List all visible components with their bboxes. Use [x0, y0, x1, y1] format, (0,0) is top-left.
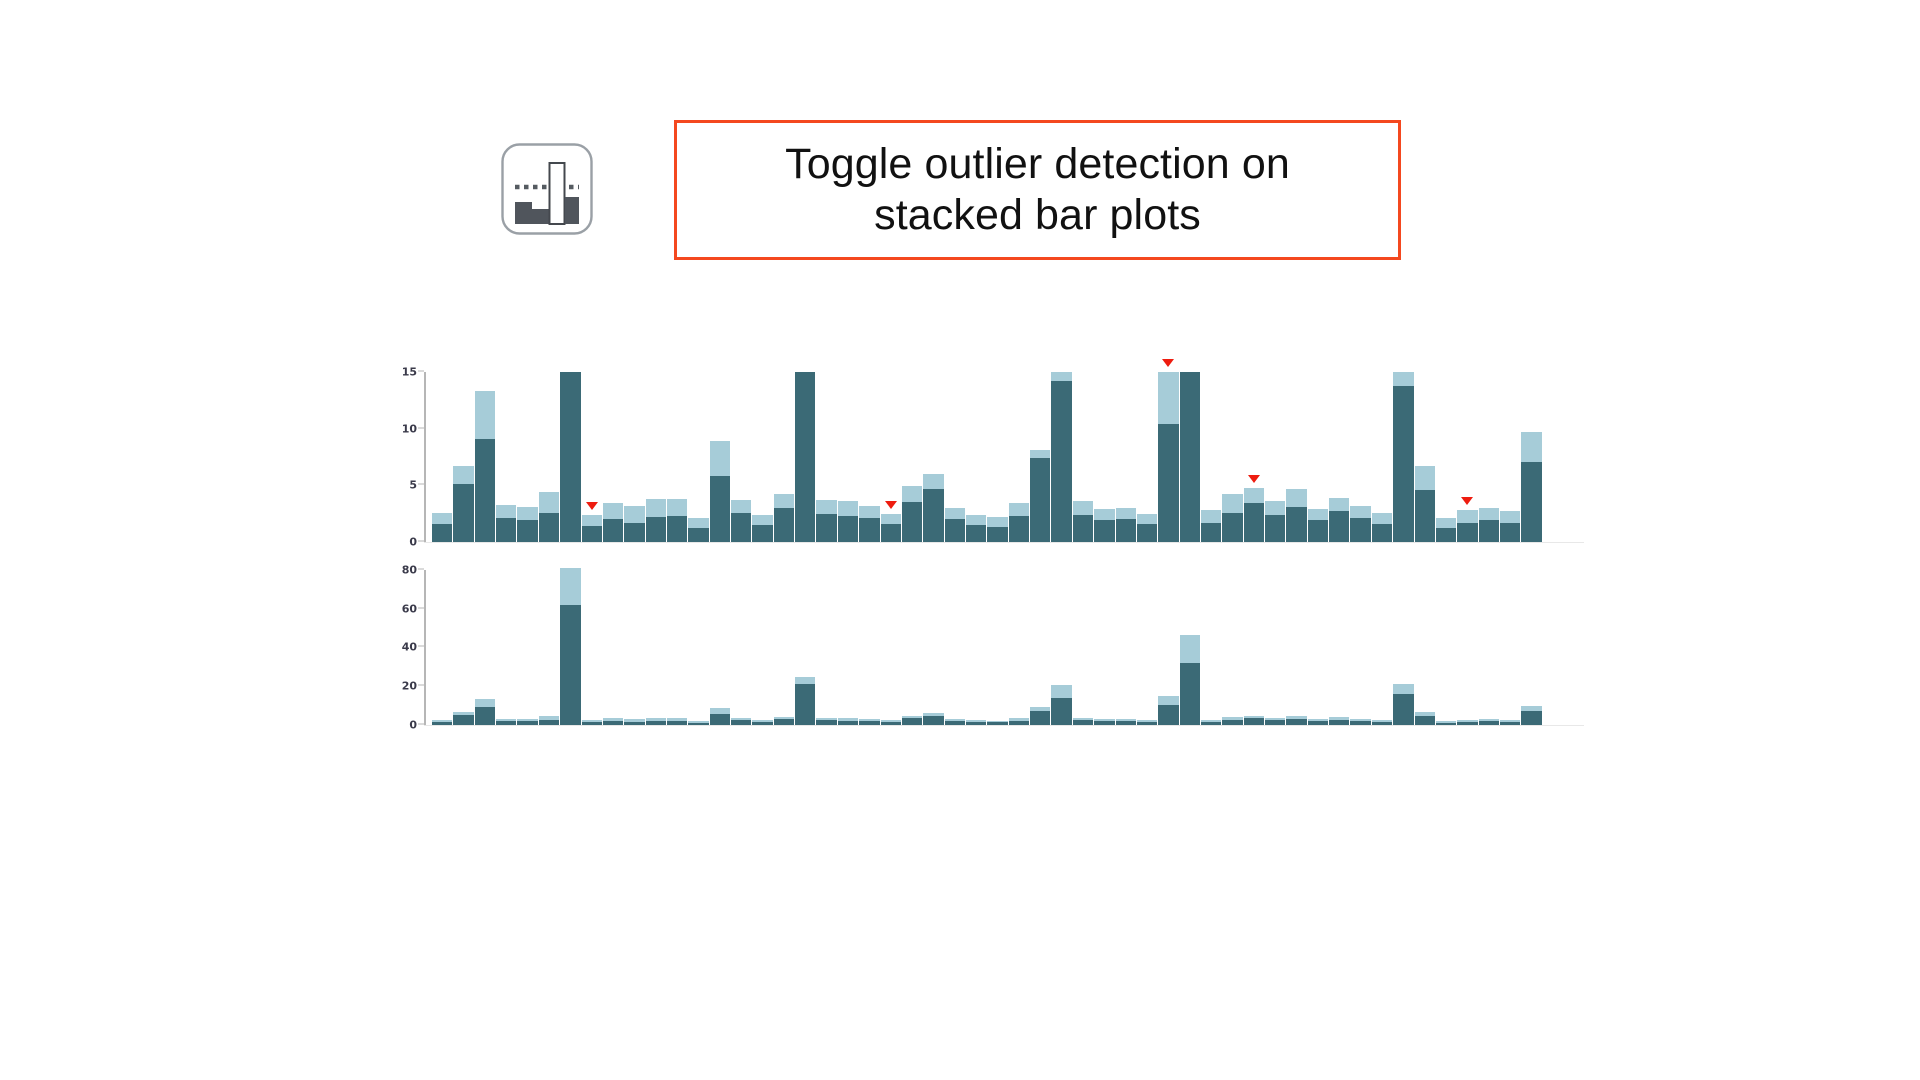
bar-segment-upper: [475, 699, 495, 707]
bar-segment-lower: [453, 715, 473, 725]
bar-column[interactable]: [1201, 372, 1221, 542]
bar-column[interactable]: [881, 560, 901, 725]
bar-column[interactable]: [966, 372, 986, 542]
bar-segment-upper: [1180, 635, 1200, 663]
title-callout-box: Toggle outlier detection on stacked bar …: [674, 120, 1401, 260]
bar-column[interactable]: [453, 372, 473, 542]
bar-column[interactable]: [731, 560, 751, 725]
bar-segment-lower: [496, 518, 516, 542]
outlier-marker-icon[interactable]: [586, 502, 598, 510]
bar-segment-lower: [1116, 519, 1136, 542]
bar-column[interactable]: [1350, 560, 1370, 725]
bar-column[interactable]: [496, 372, 516, 542]
bar-segment-lower: [475, 707, 495, 725]
bar-column[interactable]: [881, 372, 901, 542]
ytick-label: 10: [402, 422, 417, 435]
ytick-label: 0: [409, 719, 417, 732]
bar-column[interactable]: [517, 372, 537, 542]
bar-column[interactable]: [624, 372, 644, 542]
bar-column[interactable]: [1009, 372, 1029, 542]
page-title: Toggle outlier detection on stacked bar …: [785, 139, 1290, 240]
bar-column[interactable]: [1393, 372, 1413, 542]
bar-column[interactable]: [1244, 560, 1264, 725]
bar-column[interactable]: [1543, 560, 1563, 725]
bar-column[interactable]: [1329, 372, 1349, 542]
bar-column[interactable]: [838, 560, 858, 725]
bar-column[interactable]: [496, 560, 516, 725]
bar-column[interactable]: [1158, 372, 1178, 542]
bar-column[interactable]: [1116, 372, 1136, 542]
bar-column[interactable]: [1564, 372, 1584, 542]
bar-column[interactable]: [966, 560, 986, 725]
bar-column[interactable]: [859, 372, 879, 542]
bar-segment-lower: [1073, 515, 1093, 542]
bar-column[interactable]: [1457, 560, 1477, 725]
bar-column[interactable]: [560, 560, 580, 725]
bar-segment-upper: [731, 500, 751, 512]
bar-column[interactable]: [539, 372, 559, 542]
bar-column[interactable]: [1308, 560, 1328, 725]
bar-column[interactable]: [752, 560, 772, 725]
bar-segment-upper: [1457, 510, 1477, 522]
bar-column[interactable]: [1094, 560, 1114, 725]
bar-segment-upper: [945, 508, 965, 519]
bar-column[interactable]: [1479, 560, 1499, 725]
bar-column[interactable]: [624, 560, 644, 725]
bar-column[interactable]: [731, 372, 751, 542]
page-root: Toggle outlier detection on stacked bar …: [0, 0, 1920, 1080]
bar-segment-upper: [560, 568, 580, 605]
bar-segment-upper: [752, 515, 772, 525]
bar-segment-lower: [1329, 511, 1349, 542]
bar-column[interactable]: [1137, 372, 1157, 542]
bar-segment-upper: [838, 501, 858, 516]
bar-segment-upper: [582, 515, 602, 526]
bar-segment-lower: [1372, 524, 1392, 542]
header: Toggle outlier detection on stacked bar …: [500, 120, 1401, 260]
bar-segment-upper: [1244, 488, 1264, 504]
bar-segment-lower: [1094, 520, 1114, 542]
bar-column[interactable]: [582, 372, 602, 542]
bar-segment-lower: [582, 526, 602, 542]
bar-column[interactable]: [1500, 372, 1520, 542]
bar-column[interactable]: [816, 560, 836, 725]
bar-column[interactable]: [795, 372, 815, 542]
bar-segment-upper: [1009, 503, 1029, 515]
bar-segment-upper: [539, 492, 559, 512]
bar-column[interactable]: [517, 560, 537, 725]
bar-segment-lower: [881, 524, 901, 542]
bar-column[interactable]: [1372, 560, 1392, 725]
bar-column[interactable]: [987, 372, 1007, 542]
ytick-mark: [418, 646, 424, 647]
bar-column[interactable]: [1521, 372, 1541, 542]
bar-column[interactable]: [945, 372, 965, 542]
bar-column[interactable]: [816, 372, 836, 542]
bar-segment-lower: [923, 489, 943, 542]
bar-segment-lower: [1521, 711, 1541, 725]
bar-segment-lower: [624, 523, 644, 542]
bar-segment-upper: [774, 494, 794, 508]
chart-top-bars: [432, 372, 1584, 542]
bar-segment-lower: [902, 718, 922, 725]
bar-segment-lower: [710, 714, 730, 725]
bar-segment-lower: [731, 513, 751, 542]
ytick-mark: [418, 685, 424, 686]
bar-column[interactable]: [1180, 560, 1200, 725]
bar-column[interactable]: [1201, 560, 1221, 725]
bar-segment-upper: [624, 506, 644, 523]
bar-segment-lower: [752, 525, 772, 542]
bar-segment-upper: [902, 486, 922, 502]
bar-segment-upper: [1350, 506, 1370, 518]
bar-segment-upper: [1158, 696, 1178, 705]
ytick-label: 40: [402, 641, 417, 654]
bar-segment-lower: [1521, 462, 1541, 542]
bar-column[interactable]: [667, 560, 687, 725]
chart-top-inner: 051015: [424, 372, 1584, 542]
bar-column[interactable]: [1137, 560, 1157, 725]
bar-segment-upper: [1201, 510, 1221, 522]
bar-column[interactable]: [1286, 372, 1306, 542]
bar-column[interactable]: [475, 372, 495, 542]
chart-clipped-stacked-bars: 051015: [424, 372, 1584, 542]
bar-segment-lower: [923, 716, 943, 725]
bar-column[interactable]: [1009, 560, 1029, 725]
bar-segment-lower: [560, 605, 580, 725]
bar-column[interactable]: [1116, 560, 1136, 725]
ytick-label: 80: [402, 563, 417, 576]
bar-column[interactable]: [902, 372, 922, 542]
bar-segment-upper: [646, 499, 666, 517]
bar-column[interactable]: [1051, 372, 1071, 542]
bar-segment-lower: [1222, 513, 1242, 542]
bar-segment-upper: [667, 499, 687, 516]
bar-column[interactable]: [1350, 372, 1370, 542]
bar-segment-lower: [1180, 372, 1200, 542]
bar-segment-upper: [816, 500, 836, 514]
chart-top-baseline: [424, 542, 1584, 543]
bar-segment-lower: [1051, 381, 1071, 542]
chart-bottom-bars: [432, 560, 1584, 725]
bar-segment-upper: [517, 507, 537, 521]
bar-segment-upper: [795, 677, 815, 684]
bar-segment-lower: [1009, 516, 1029, 542]
bar-segment-lower: [1479, 520, 1499, 542]
bar-segment-upper: [1479, 508, 1499, 520]
bar-segment-lower: [1436, 528, 1456, 542]
chart-top-yaxis: [424, 372, 426, 542]
bar-column[interactable]: [667, 372, 687, 542]
bar-segment-upper: [1436, 518, 1456, 528]
bar-column[interactable]: [987, 560, 1007, 725]
bar-column[interactable]: [1543, 372, 1563, 542]
bar-segment-lower: [1500, 523, 1520, 542]
outlier-marker-icon[interactable]: [1162, 359, 1174, 367]
bar-column[interactable]: [603, 560, 623, 725]
bar-column[interactable]: [1244, 372, 1264, 542]
bar-segment-lower: [1286, 507, 1306, 542]
bar-segment-upper: [987, 517, 1007, 527]
chart-full-range-stacked-bars: 020406080: [424, 560, 1584, 725]
chart-top-plot-area: [432, 372, 1584, 542]
bar-column[interactable]: [688, 560, 708, 725]
bar-segment-lower: [432, 524, 452, 542]
bar-column[interactable]: [710, 372, 730, 542]
bar-segment-lower: [795, 372, 815, 542]
bar-segment-upper: [1415, 466, 1435, 490]
outlier-marker-icon[interactable]: [1461, 497, 1473, 505]
bar-column[interactable]: [752, 372, 772, 542]
bar-segment-upper: [923, 474, 943, 489]
bar-segment-lower: [560, 372, 580, 542]
bar-column[interactable]: [1094, 372, 1114, 542]
ytick-label: 5: [409, 479, 417, 492]
ytick-mark: [418, 484, 424, 485]
bar-segment-upper: [1521, 432, 1541, 461]
bar-segment-lower: [1393, 694, 1413, 725]
ytick-mark: [418, 607, 424, 608]
bar-column[interactable]: [710, 560, 730, 725]
bar-column[interactable]: [475, 560, 495, 725]
ytick-label: 60: [402, 602, 417, 615]
bar-segment-lower: [710, 476, 730, 542]
bar-segment-lower: [1350, 518, 1370, 542]
bar-segment-lower: [688, 528, 708, 542]
chart-bottom-yaxis: [424, 570, 426, 725]
bar-segment-upper: [475, 391, 495, 439]
bar-segment-upper: [1051, 685, 1071, 698]
bar-segment-upper: [1158, 372, 1178, 424]
bar-segment-upper: [688, 518, 708, 528]
bar-column[interactable]: [1158, 560, 1178, 725]
bar-column[interactable]: [560, 372, 580, 542]
bar-segment-upper: [432, 513, 452, 524]
bar-segment-lower: [795, 684, 815, 725]
bar-segment-upper: [1393, 372, 1413, 386]
bar-segment-upper: [710, 441, 730, 476]
bar-column[interactable]: [1286, 560, 1306, 725]
bar-segment-upper: [1116, 508, 1136, 519]
bar-segment-lower: [517, 520, 537, 542]
bar-column[interactable]: [1393, 560, 1413, 725]
bar-column[interactable]: [1222, 372, 1242, 542]
bar-column[interactable]: [1030, 560, 1050, 725]
bar-segment-upper: [1329, 498, 1349, 512]
bar-segment-upper: [859, 506, 879, 518]
bar-column[interactable]: [1073, 372, 1093, 542]
bar-segment-lower: [475, 439, 495, 542]
bar-column[interactable]: [1372, 372, 1392, 542]
bar-segment-upper: [1286, 489, 1306, 507]
bar-segment-upper: [1265, 501, 1285, 515]
bar-segment-lower: [1415, 716, 1435, 725]
bar-segment-lower: [945, 519, 965, 542]
bar-segment-upper: [881, 514, 901, 524]
bar-column[interactable]: [1436, 372, 1456, 542]
bar-column[interactable]: [688, 372, 708, 542]
ytick-label: 15: [402, 366, 417, 379]
bar-segment-upper: [453, 466, 473, 484]
bar-segment-lower: [1158, 424, 1178, 542]
bar-segment-upper: [1137, 514, 1157, 524]
bar-segment-lower: [1137, 524, 1157, 542]
bar-column[interactable]: [1222, 560, 1242, 725]
bar-segment-lower: [859, 518, 879, 542]
bar-segment-upper: [1073, 501, 1093, 515]
bar-segment-lower: [966, 525, 986, 542]
bar-column[interactable]: [1479, 372, 1499, 542]
bar-segment-upper: [1500, 511, 1520, 522]
bar-column[interactable]: [1051, 560, 1071, 725]
bar-segment-upper: [496, 505, 516, 519]
bar-segment-lower: [1265, 515, 1285, 542]
bar-segment-lower: [646, 517, 666, 542]
bar-segment-lower: [774, 508, 794, 542]
bar-column[interactable]: [923, 372, 943, 542]
bar-column[interactable]: [838, 372, 858, 542]
bar-segment-upper: [966, 515, 986, 525]
bar-segment-lower: [1393, 386, 1413, 542]
bar-segment-lower: [1180, 663, 1200, 725]
ytick-mark: [418, 541, 424, 542]
bar-segment-lower: [603, 519, 623, 542]
bar-column[interactable]: [539, 560, 559, 725]
bar-column[interactable]: [1415, 372, 1435, 542]
bar-segment-lower: [1201, 523, 1221, 542]
bar-segment-lower: [1457, 523, 1477, 542]
bar-column[interactable]: [795, 560, 815, 725]
ytick-mark: [418, 371, 424, 372]
bar-column[interactable]: [1436, 560, 1456, 725]
bar-column[interactable]: [1308, 372, 1328, 542]
bar-segment-lower: [987, 527, 1007, 542]
bar-segment-upper: [1308, 509, 1328, 520]
bar-segment-lower: [1244, 503, 1264, 542]
outlier-detection-bar-chart-icon: [500, 142, 594, 236]
bar-column[interactable]: [923, 560, 943, 725]
bar-column[interactable]: [1329, 560, 1349, 725]
bar-segment-upper: [1094, 509, 1114, 520]
chart-bottom-baseline: [424, 725, 1584, 726]
bar-segment-lower: [902, 502, 922, 542]
ytick-mark: [418, 724, 424, 725]
bar-segment-upper: [1222, 494, 1242, 512]
bar-segment-lower: [453, 484, 473, 542]
bar-segment-upper: [1030, 450, 1050, 458]
bar-column[interactable]: [1500, 560, 1520, 725]
bar-column[interactable]: [1265, 560, 1285, 725]
bar-segment-lower: [1051, 698, 1071, 725]
bar-column[interactable]: [1564, 560, 1584, 725]
bar-column[interactable]: [646, 372, 666, 542]
bar-segment-lower: [816, 514, 836, 542]
ytick-label: 20: [402, 680, 417, 693]
chart-bottom-plot-area: [432, 560, 1584, 725]
bar-column[interactable]: [1265, 372, 1285, 542]
bar-column[interactable]: [1073, 560, 1093, 725]
bar-column[interactable]: [859, 560, 879, 725]
bar-column[interactable]: [1030, 372, 1050, 542]
bar-column[interactable]: [603, 372, 623, 542]
ytick-label: 0: [409, 536, 417, 549]
bar-column[interactable]: [453, 560, 473, 725]
outlier-marker-icon[interactable]: [1248, 475, 1260, 483]
outlier-marker-icon[interactable]: [885, 501, 897, 509]
ytick-mark: [418, 568, 424, 569]
chart-bottom-inner: 020406080: [424, 560, 1584, 725]
bar-column[interactable]: [1457, 372, 1477, 542]
bar-column[interactable]: [774, 372, 794, 542]
bar-column[interactable]: [646, 560, 666, 725]
bar-segment-lower: [667, 516, 687, 542]
bar-segment-lower: [1030, 458, 1050, 542]
bar-column[interactable]: [945, 560, 965, 725]
bar-column[interactable]: [1180, 372, 1200, 542]
bar-column[interactable]: [432, 372, 452, 542]
bar-column[interactable]: [432, 560, 452, 725]
bar-segment-upper: [603, 503, 623, 519]
bar-segment-lower: [1244, 718, 1264, 725]
bar-column[interactable]: [1415, 560, 1435, 725]
bar-segment-upper: [1051, 372, 1071, 381]
bar-segment-upper: [1372, 513, 1392, 524]
bar-segment-lower: [838, 516, 858, 542]
bar-column[interactable]: [582, 560, 602, 725]
bar-column[interactable]: [774, 560, 794, 725]
bar-segment-upper: [1393, 684, 1413, 694]
ytick-mark: [418, 427, 424, 428]
bar-segment-lower: [539, 513, 559, 542]
bar-segment-lower: [1030, 711, 1050, 725]
bar-column[interactable]: [1521, 560, 1541, 725]
bar-segment-lower: [1415, 490, 1435, 542]
bar-column[interactable]: [902, 560, 922, 725]
bar-segment-lower: [1158, 705, 1178, 725]
bar-segment-lower: [1308, 520, 1328, 542]
